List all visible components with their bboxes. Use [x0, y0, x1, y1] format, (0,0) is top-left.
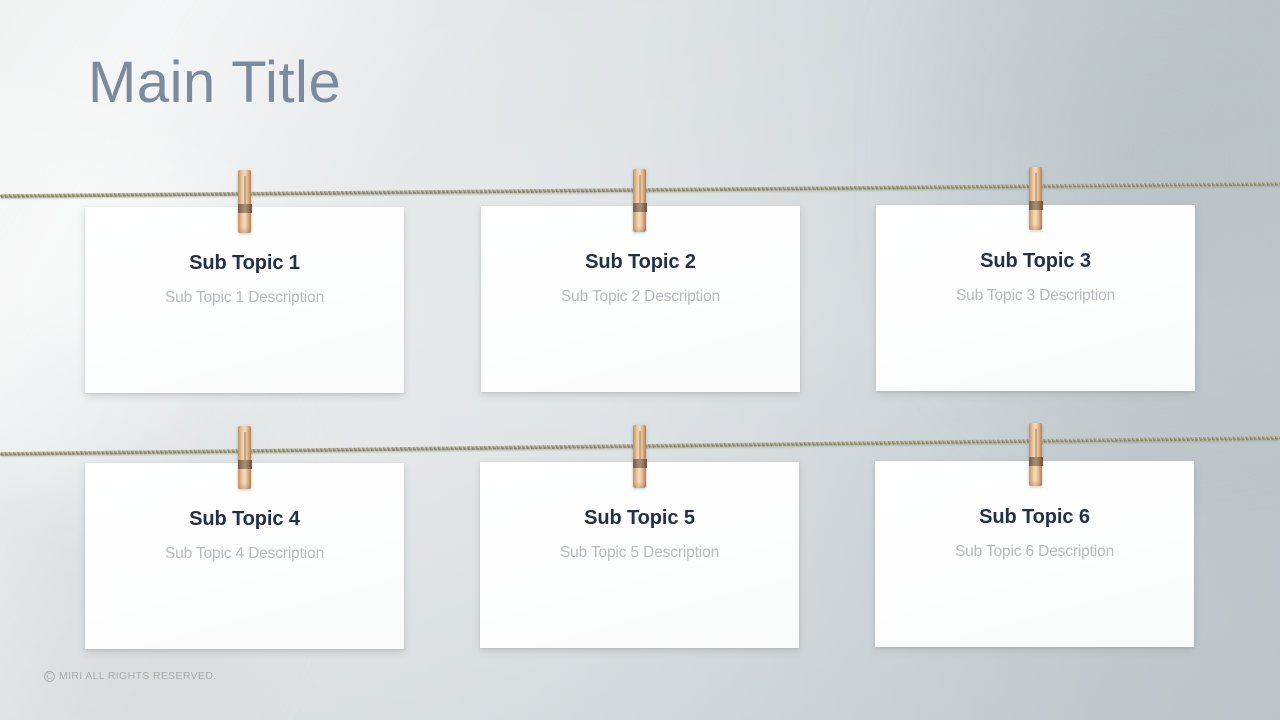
card-description: Sub Topic 1 Description — [85, 290, 404, 306]
clothespin-slot-icon — [1035, 429, 1037, 460]
clothespin-card-6 — [1029, 423, 1042, 486]
card-sub-topic-4[interactable]: Sub Topic 4 Sub Topic 4 Description — [85, 463, 404, 649]
clothespin-tip-icon — [1029, 480, 1042, 486]
clothespin-card-5 — [633, 425, 646, 488]
clothespin-card-1 — [238, 170, 251, 233]
card-description: Sub Topic 3 Description — [876, 288, 1195, 304]
footer-copyright: C MIRI ALL RIGHTS RESERVED. — [44, 670, 217, 682]
copyright-icon: C — [44, 671, 55, 682]
clothespin-slot-icon — [639, 431, 641, 462]
clothespin-slot-icon — [244, 176, 246, 207]
card-title: Sub Topic 6 — [875, 507, 1194, 527]
clothespin-card-3 — [1029, 167, 1042, 230]
card-description: Sub Topic 6 Description — [875, 544, 1194, 560]
card-description: Sub Topic 4 Description — [85, 546, 404, 562]
clothespin-slot-icon — [639, 175, 641, 206]
clothespin-tip-icon — [633, 482, 646, 488]
clothespin-band-icon — [1029, 457, 1043, 466]
card-description: Sub Topic 2 Description — [481, 289, 800, 305]
card-sub-topic-6[interactable]: Sub Topic 6 Sub Topic 6 Description — [875, 461, 1194, 647]
card-sub-topic-2[interactable]: Sub Topic 2 Sub Topic 2 Description — [481, 206, 800, 392]
clothespin-band-icon — [1029, 201, 1043, 210]
clothespin-tip-icon — [633, 226, 646, 232]
card-description: Sub Topic 5 Description — [480, 545, 799, 561]
clothespin-tip-icon — [238, 483, 251, 489]
clothespin-card-2 — [633, 169, 646, 232]
clothespin-band-icon — [238, 460, 252, 469]
card-title: Sub Topic 4 — [85, 509, 404, 529]
clothespin-band-icon — [238, 204, 252, 213]
clothespin-card-4 — [238, 426, 251, 489]
clothespin-band-icon — [633, 203, 647, 212]
clothespin-band-icon — [633, 459, 647, 468]
card-title: Sub Topic 3 — [876, 251, 1195, 271]
footer-text: MIRI ALL RIGHTS RESERVED. — [59, 670, 217, 682]
clothespin-tip-icon — [1029, 224, 1042, 230]
card-title: Sub Topic 5 — [480, 508, 799, 528]
card-sub-topic-5[interactable]: Sub Topic 5 Sub Topic 5 Description — [480, 462, 799, 648]
clothespin-tip-icon — [238, 227, 251, 233]
card-sub-topic-3[interactable]: Sub Topic 3 Sub Topic 3 Description — [876, 205, 1195, 391]
slide-canvas: Main Title Sub Topic 1 Sub Topic 1 Descr… — [0, 0, 1280, 720]
clothespin-slot-icon — [1035, 173, 1037, 204]
card-sub-topic-1[interactable]: Sub Topic 1 Sub Topic 1 Description — [85, 207, 404, 393]
card-title: Sub Topic 2 — [481, 252, 800, 272]
page-title: Main Title — [88, 50, 341, 117]
card-title: Sub Topic 1 — [85, 253, 404, 273]
clothespin-slot-icon — [244, 432, 246, 463]
